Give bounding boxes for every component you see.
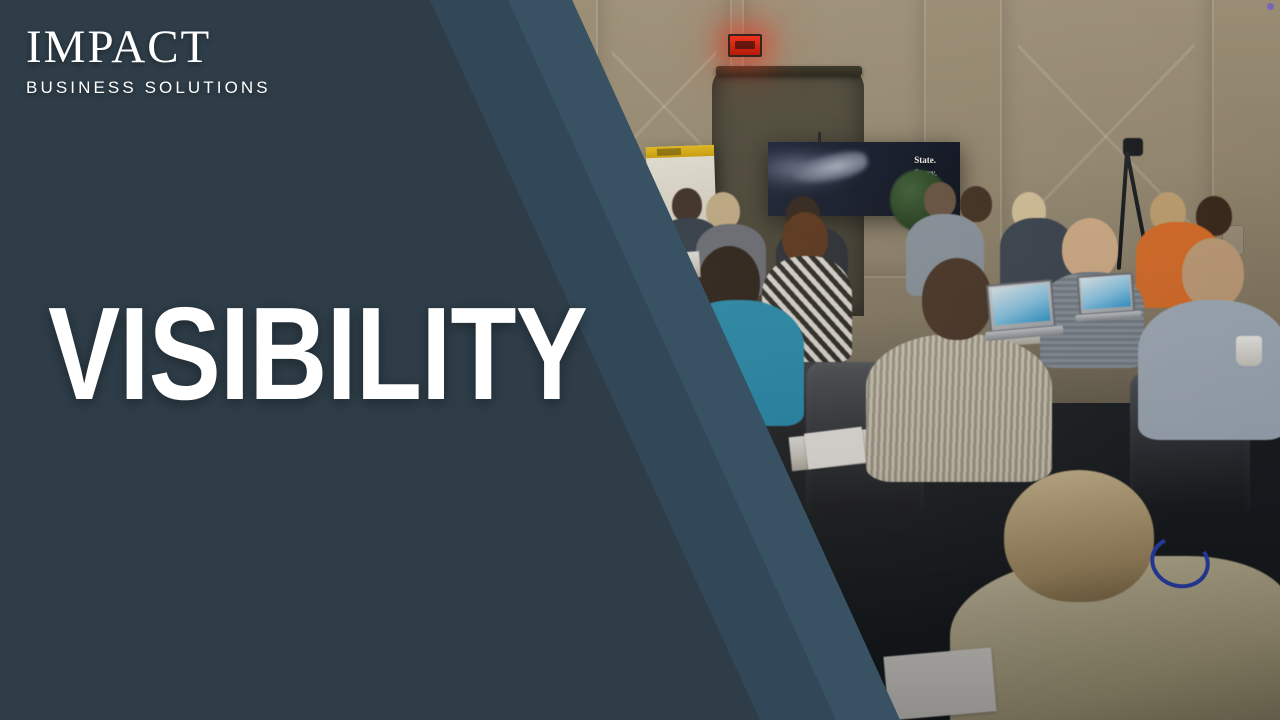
audience-head	[924, 182, 956, 218]
page-title: VISIBILITY	[48, 288, 587, 420]
audience-head	[1062, 218, 1118, 280]
paper	[883, 647, 996, 720]
audience-body	[866, 334, 1052, 482]
purple-dot-icon	[1267, 3, 1274, 10]
brand-logo-mark: IMPACT	[26, 24, 271, 71]
exit-sign	[728, 34, 762, 57]
foreground-attendee-head	[1004, 470, 1154, 602]
audience-head	[922, 258, 992, 340]
slide-canvas: ter State. Story. Strategy.	[0, 0, 1280, 720]
audience-head	[1182, 238, 1244, 308]
screen-stand	[818, 132, 821, 146]
coffee-cup	[1236, 336, 1262, 366]
laptop	[1077, 272, 1136, 316]
door-rail	[716, 66, 862, 76]
audience-head	[672, 188, 702, 222]
brand-logo: IMPACT BUSINESS SOLUTIONS	[26, 24, 271, 96]
audience-body	[1138, 300, 1280, 440]
laptop	[986, 279, 1056, 333]
screen-line-1: State.	[914, 154, 948, 168]
brand-logo-tagline: BUSINESS SOLUTIONS	[26, 79, 271, 96]
paper	[804, 427, 866, 470]
